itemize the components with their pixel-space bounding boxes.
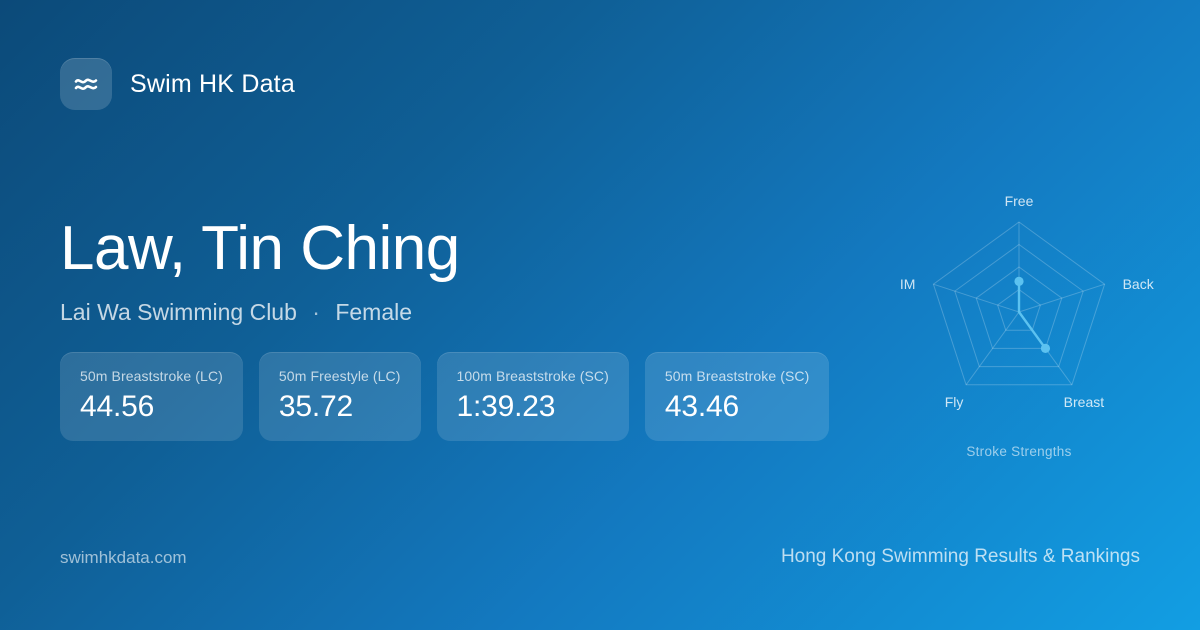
radar-axis-label-back: Back (1123, 276, 1155, 292)
stat-card-label: 50m Breaststroke (LC) (80, 368, 223, 384)
footer-tagline: Hong Kong Swimming Results & Rankings (781, 546, 1140, 568)
stat-card: 50m Breaststroke (SC) 43.46 (645, 352, 829, 441)
best-times-row: 50m Breaststroke (LC) 44.56 50m Freestyl… (60, 352, 829, 441)
radar-data-area (1019, 281, 1045, 348)
brand-header: Swim HK Data (60, 58, 295, 110)
meta-separator: · (303, 299, 329, 326)
stroke-strengths-radar-chart: FreeBackBreastFlyIM Stroke Strengths (869, 168, 1169, 468)
stat-card-value: 44.56 (80, 390, 223, 424)
stat-card: 100m Breaststroke (SC) 1:39.23 (437, 352, 629, 441)
stat-card: 50m Freestyle (LC) 35.72 (259, 352, 421, 441)
radar-axis-label-breast: Breast (1064, 394, 1105, 410)
brand-name: Swim HK Data (130, 70, 295, 99)
athlete-hero: Law, Tin Ching Lai Wa Swimming Club · Fe… (60, 218, 860, 326)
radar-spoke (933, 284, 1019, 312)
radar-axis-label-fly: Fly (945, 394, 964, 410)
stat-card: 50m Breaststroke (LC) 44.56 (60, 352, 243, 441)
athlete-meta: Lai Wa Swimming Club · Female (60, 299, 860, 326)
wave-approx-icon (60, 58, 112, 110)
stat-card-label: 100m Breaststroke (SC) (457, 368, 609, 384)
og-card-canvas: Swim HK Data Law, Tin Ching Lai Wa Swimm… (0, 0, 1200, 630)
stat-card-value: 35.72 (279, 390, 401, 424)
athlete-club: Lai Wa Swimming Club (60, 299, 297, 325)
stat-card-label: 50m Freestyle (LC) (279, 368, 401, 384)
stat-card-label: 50m Breaststroke (SC) (665, 368, 809, 384)
radar-axis-labels: FreeBackBreastFlyIM (900, 193, 1155, 410)
radar-data-point (1014, 277, 1023, 286)
stat-card-value: 1:39.23 (457, 390, 609, 424)
radar-spoke (1019, 284, 1105, 312)
radar-axis-label-im: IM (900, 276, 916, 292)
stat-card-value: 43.46 (665, 390, 809, 424)
radar-chart-caption: Stroke Strengths (966, 444, 1071, 459)
page-title: Law, Tin Ching (60, 218, 860, 280)
radar-data-point (1041, 344, 1050, 353)
athlete-gender: Female (335, 299, 412, 325)
footer-site-url: swimhkdata.com (60, 548, 187, 568)
radar-axis-label-free: Free (1005, 193, 1034, 209)
